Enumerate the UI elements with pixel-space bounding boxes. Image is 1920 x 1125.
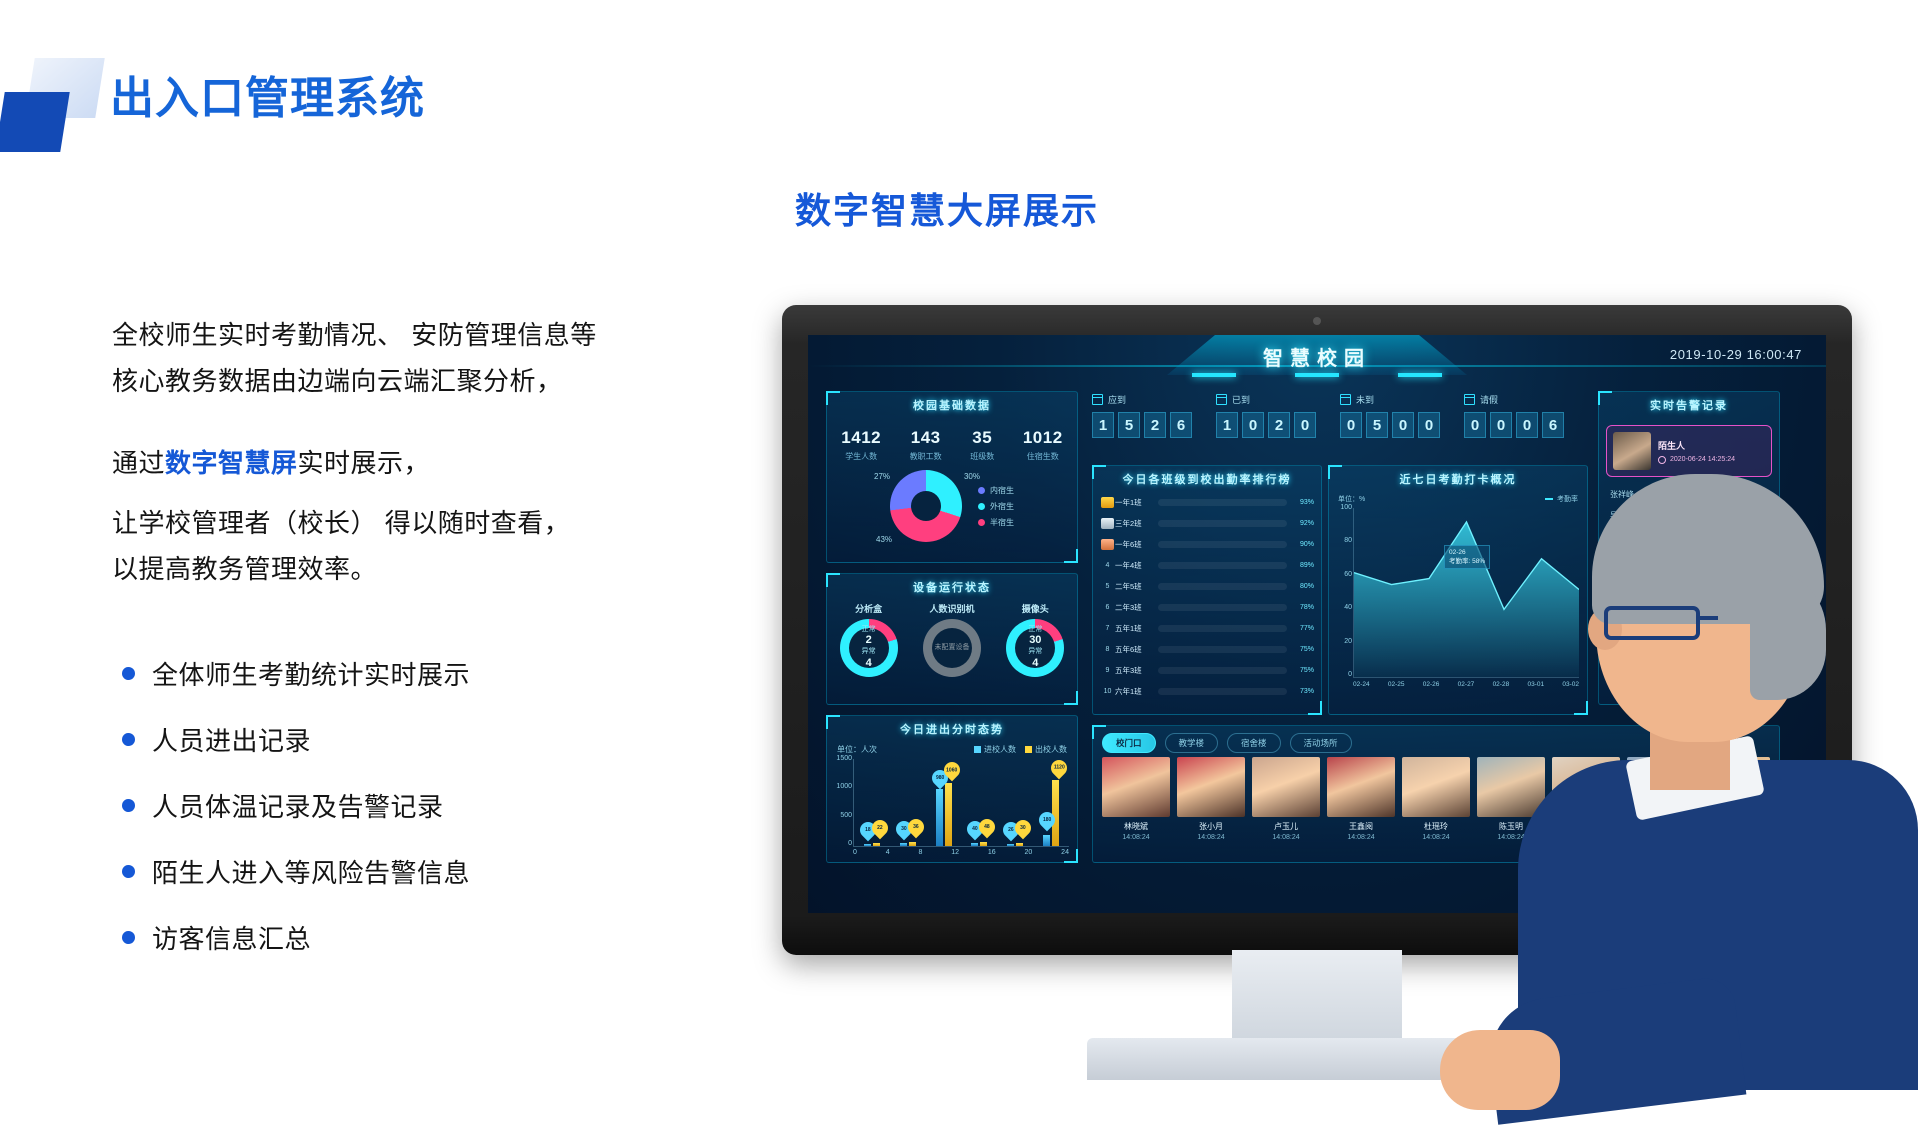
- y-tick: 40: [1330, 604, 1352, 611]
- rank-number: 9: [1100, 667, 1115, 674]
- kpi-classes: 35 班级数: [970, 428, 994, 462]
- class-name: 一年1班: [1115, 497, 1153, 508]
- device-ring-chart: 正常 2 异常 4: [840, 619, 898, 677]
- list-item: 人员体温记录及告警记录: [122, 787, 682, 824]
- dashboard-header: 智慧校园 2019-10-29 16:00:47: [808, 335, 1826, 383]
- face-thumbnail: [1402, 757, 1470, 817]
- face-name: 卢玉儿: [1252, 821, 1320, 832]
- paragraph-benefit-line1: 让学校管理者（校长） 得以随时查看，: [112, 500, 732, 546]
- rank-number: 4: [1100, 562, 1115, 569]
- donut-pct-bottom: 43%: [876, 535, 892, 544]
- chart-plot-area: 1500 1000 500 0 18 22 30 36: [853, 759, 1069, 847]
- bullet-label: 陌生人进入等风险告警信息: [152, 853, 470, 890]
- bar-group: 980 1060: [936, 783, 952, 846]
- stat-arrived: 已到 1 0 2 0: [1216, 393, 1340, 459]
- device-bad-label: 异常: [1028, 648, 1042, 657]
- face-time: 14:08:24: [1402, 834, 1470, 841]
- rank-number: 6: [1100, 604, 1115, 611]
- class-pct: 89%: [1292, 562, 1314, 569]
- person-glasses: [1604, 606, 1700, 640]
- class-name: 五年6班: [1115, 644, 1153, 655]
- list-item: 全体师生考勤统计实时展示: [122, 655, 682, 692]
- list-item: 访客信息汇总: [122, 919, 682, 956]
- stat-label: 已到: [1232, 393, 1250, 406]
- kpi-label: 班级数: [970, 451, 994, 462]
- table-row: 5 二年5班 80%: [1093, 576, 1321, 597]
- medal-gold-icon: [1101, 497, 1114, 508]
- class-name: 一年6班: [1115, 539, 1153, 550]
- face-thumbnail: [1177, 757, 1245, 817]
- class-name: 一年4班: [1115, 560, 1153, 571]
- class-name: 六年1班: [1115, 686, 1153, 697]
- legend-item: 出校人数: [1025, 744, 1067, 755]
- list-item[interactable]: 王鑫阅 14:08:24: [1327, 757, 1395, 841]
- x-tick: 0: [853, 849, 857, 856]
- bullet-dot-icon: [122, 667, 135, 680]
- panel-title: 今日各班级到校出勤率排行榜: [1093, 466, 1321, 492]
- x-tick: 02-24: [1353, 681, 1370, 688]
- bullet-label: 人员体温记录及告警记录: [152, 787, 444, 824]
- device-ok-value: 2: [866, 634, 872, 648]
- class-pct: 75%: [1292, 667, 1314, 674]
- tab-teaching-building[interactable]: 教学楼: [1165, 733, 1219, 753]
- class-name: 五年3班: [1115, 665, 1153, 676]
- device-name: 分析盒: [840, 602, 898, 615]
- list-item[interactable]: 林晓斌 14:08:24: [1102, 757, 1170, 841]
- class-name: 五年1班: [1115, 623, 1153, 634]
- class-name: 三年2班: [1115, 518, 1153, 529]
- class-pct: 93%: [1292, 499, 1314, 506]
- stat-label: 应到: [1108, 393, 1126, 406]
- stat-digits: 1 0 2 0: [1216, 412, 1340, 438]
- table-row: 8 五年6班 75%: [1093, 639, 1321, 660]
- chart-header: 单位：人次 进校人数 出校人数: [827, 742, 1077, 755]
- rank-number: 5: [1100, 583, 1115, 590]
- legend-item: 外宿生: [978, 501, 1014, 512]
- panel-title: 今日进出分时态势: [827, 716, 1077, 742]
- legend-item: 半宿生: [978, 517, 1014, 528]
- paragraph-display-pre: 通过: [112, 448, 165, 478]
- person-glasses-bridge: [1696, 616, 1718, 620]
- kpi-value: 1012: [1023, 428, 1063, 448]
- face-thumbnail: [1327, 757, 1395, 817]
- device-name: 摄像头: [1006, 602, 1064, 615]
- legend-label: 出校人数: [1035, 744, 1067, 755]
- class-pct: 80%: [1292, 583, 1314, 590]
- face-thumbnail: [1102, 757, 1170, 817]
- device-ok-label: 正常: [862, 626, 876, 635]
- webcam-icon: [1313, 317, 1321, 325]
- y-tick: 60: [1330, 571, 1352, 578]
- list-item[interactable]: 张小月 14:08:24: [1177, 757, 1245, 841]
- clock-timestamp: 2019-10-29 16:00:47: [1670, 347, 1802, 362]
- donut-ring: [890, 470, 962, 542]
- monitor-stand-neck: [1232, 950, 1402, 1042]
- face-name: 张小月: [1177, 821, 1245, 832]
- kpi-staff: 143 教职工数: [910, 428, 942, 462]
- legend-label: 进校人数: [984, 744, 1016, 755]
- x-tick: 16: [988, 849, 996, 856]
- bullet-label: 人员进出记录: [152, 721, 311, 758]
- table-row: 4 一年4班 89%: [1093, 555, 1321, 576]
- x-tick: 02-26: [1423, 681, 1440, 688]
- face-name: 杜瑶玲: [1402, 821, 1470, 832]
- chart-unit-label: 单位：人次: [837, 744, 877, 755]
- y-tick: 0: [828, 840, 852, 847]
- legend-item: 内宿生: [978, 485, 1014, 496]
- person-hand: [1440, 1030, 1560, 1110]
- donut-pct-right: 30%: [964, 472, 980, 481]
- device-ok-label: 正常: [1028, 626, 1042, 635]
- dashboard-title: 智慧校园: [1167, 342, 1467, 371]
- boarding-donut-chart: 27% 30% 43% 内宿生 外宿生 半宿生: [827, 470, 1077, 542]
- y-tick: 0: [1330, 671, 1352, 678]
- table-row: 一年1班 93%: [1093, 492, 1321, 513]
- donut-pct-left: 27%: [874, 472, 890, 481]
- feature-bullet-list: 全体师生考勤统计实时展示 人员进出记录 人员体温记录及告警记录 陌生人进入等风险…: [122, 655, 682, 985]
- x-tick: 8: [919, 849, 923, 856]
- device-ring-chart: 正常 30 异常 4: [1006, 619, 1064, 677]
- kpi-boarders: 1012 住宿生数: [1023, 428, 1063, 462]
- y-tick: 80: [1330, 537, 1352, 544]
- device-ring-chart: 未配置设备: [923, 619, 981, 677]
- y-tick: 500: [828, 812, 852, 819]
- stat-digits: 0 5 0 0: [1340, 412, 1464, 438]
- rank-number: 7: [1100, 625, 1115, 632]
- class-pct: 77%: [1292, 625, 1314, 632]
- kpi-students: 1412 学生人数: [841, 428, 881, 462]
- class-pct: 73%: [1292, 688, 1314, 695]
- face-thumbnail: [1252, 757, 1320, 817]
- x-tick: 24: [1061, 849, 1069, 856]
- bar-group: 18 22: [864, 843, 880, 846]
- kpi-value: 143: [910, 428, 942, 448]
- device-row: 分析盒 正常 2 异常 4 人数识别机: [827, 602, 1077, 677]
- rank-number: 8: [1100, 646, 1115, 653]
- bar-group: 30 36: [900, 842, 916, 846]
- device-analyzer: 分析盒 正常 2 异常 4: [840, 602, 898, 677]
- stat-absent: 未到 0 5 0 0: [1340, 393, 1464, 459]
- device-bad-label: 异常: [862, 648, 876, 657]
- bullet-label: 全体师生考勤统计实时展示: [152, 655, 470, 692]
- panel-device-status: 设备运行状态 分析盒 正常 2 异常 4: [826, 573, 1078, 705]
- class-name: 二年3班: [1115, 602, 1153, 613]
- tab-dormitory[interactable]: 宿舍楼: [1227, 733, 1281, 753]
- paragraph-intro: 全校师生实时考勤情况、 安防管理信息等 核心教务数据由边端向云端汇聚分析，: [112, 312, 712, 404]
- list-item: 人员进出记录: [122, 721, 682, 758]
- device-ok-value: 30: [1029, 634, 1041, 648]
- paragraph-benefit: 让学校管理者（校长） 得以随时查看， 以提高教务管理效率。: [112, 500, 732, 592]
- face-name: 林晓斌: [1102, 821, 1170, 832]
- list-item[interactable]: 杜瑶玲 14:08:24: [1402, 757, 1470, 841]
- tab-school-gate[interactable]: 校门口: [1102, 733, 1156, 753]
- bullet-dot-icon: [122, 931, 135, 944]
- page-title: 出入口管理系统: [110, 62, 425, 126]
- table-row: 10 六年1班 73%: [1093, 681, 1321, 702]
- face-name: 王鑫阅: [1327, 821, 1395, 832]
- class-name: 二年5班: [1115, 581, 1153, 592]
- y-tick: 1500: [828, 755, 852, 762]
- face-time: 14:08:24: [1327, 834, 1395, 841]
- calendar-icon: [1092, 394, 1103, 405]
- medal-silver-icon: [1101, 518, 1114, 529]
- class-pct: 78%: [1292, 604, 1314, 611]
- kpi-value: 35: [970, 428, 994, 448]
- kpi-label: 住宿生数: [1023, 451, 1063, 462]
- class-pct: 90%: [1292, 541, 1314, 548]
- paragraph-intro-line2: 核心教务数据由边端向云端汇聚分析，: [112, 358, 712, 404]
- kpi-row: 1412 学生人数 143 教职工数 35 班级数 1012 住宿生数: [827, 428, 1077, 462]
- tab-activity-area[interactable]: 活动场所: [1290, 733, 1352, 753]
- table-row: 一年6班 90%: [1093, 534, 1321, 555]
- legend-label: 外宿生: [990, 501, 1014, 512]
- chart-unit-label: 单位：%: [1338, 494, 1365, 504]
- medal-bronze-icon: [1101, 539, 1114, 550]
- face-time: 14:08:24: [1102, 834, 1170, 841]
- bar-group: 40 48: [971, 842, 987, 846]
- list-item: 陌生人进入等风险告警信息: [122, 853, 682, 890]
- y-tick: 20: [1330, 638, 1352, 645]
- y-tick: 100: [1330, 504, 1352, 511]
- donut-legend: 内宿生 外宿生 半宿生: [978, 480, 1014, 533]
- bar-value-pin: 1120: [1048, 757, 1071, 780]
- y-axis-ticks: 1500 1000 500 0: [828, 755, 852, 847]
- y-tick: 1000: [828, 783, 852, 790]
- header-tick-marks: [1192, 373, 1442, 377]
- bullet-dot-icon: [122, 865, 135, 878]
- device-counter: 人数识别机 未配置设备: [923, 602, 981, 677]
- stat-digits: 1 5 2 6: [1092, 412, 1216, 438]
- face-time: 14:08:24: [1177, 834, 1245, 841]
- decor-corner-solid: [0, 92, 70, 152]
- x-tick: 12: [951, 849, 959, 856]
- bar-group-container: 18 22 30 36 980 1060: [854, 759, 1069, 846]
- paragraph-intro-line1: 全校师生实时考勤情况、 安防管理信息等: [112, 312, 712, 358]
- ranking-list: 一年1班 93% 三年2班 92% 一年6班 90%: [1093, 492, 1321, 702]
- bullet-label: 访客信息汇总: [152, 919, 311, 956]
- paragraph-display-highlight: 数字智慧屏: [165, 448, 298, 478]
- device-empty-label: 未配置设备: [934, 644, 969, 653]
- device-name: 人数识别机: [923, 602, 981, 615]
- bullet-dot-icon: [122, 733, 135, 746]
- panel-class-ranking: 今日各班级到校出勤率排行榜 一年1班 93% 三年2班 92%: [1092, 465, 1322, 715]
- paragraph-display-post: 实时展示，: [298, 448, 431, 478]
- rank-number: 10: [1100, 688, 1115, 695]
- kpi-label: 教职工数: [910, 451, 942, 462]
- face-time: 14:08:24: [1252, 834, 1320, 841]
- chart-legend: 进校人数 出校人数: [974, 744, 1067, 755]
- table-row: 三年2班 92%: [1093, 513, 1321, 534]
- device-bad-value: 4: [1032, 657, 1038, 671]
- legend-item: 进校人数: [974, 744, 1016, 755]
- chart-annotation: 02-26 考勤率: 58%: [1444, 545, 1490, 569]
- class-pct: 92%: [1292, 520, 1314, 527]
- stat-expected: 应到 1 5 2 6: [1092, 393, 1216, 459]
- bullet-dot-icon: [122, 799, 135, 812]
- stat-label: 未到: [1356, 393, 1374, 406]
- bar-group: 180 1120: [1043, 780, 1059, 846]
- table-row: 9 五年3班 75%: [1093, 660, 1321, 681]
- x-tick: 02-27: [1458, 681, 1475, 688]
- y-axis-ticks: 100 80 60 40 20 0: [1330, 504, 1352, 678]
- calendar-cross-icon: [1340, 394, 1351, 405]
- panel-title: 校园基础数据: [827, 392, 1077, 418]
- panel-title: 设备运行状态: [827, 574, 1077, 600]
- stat-label: 请假: [1480, 393, 1498, 406]
- x-tick: 02-25: [1388, 681, 1405, 688]
- device-camera: 摄像头 正常 30 异常 4: [1006, 602, 1064, 677]
- table-row: 7 五年1班 77%: [1093, 618, 1321, 639]
- x-tick: 20: [1025, 849, 1033, 856]
- paragraph-display: 通过数字智慧屏实时展示，: [112, 440, 712, 486]
- device-bad-value: 4: [866, 657, 872, 671]
- x-axis-ticks: 0 4 8 12 16 20 24: [853, 849, 1069, 856]
- section-title-display: 数字智慧大屏展示: [795, 182, 1099, 234]
- x-tick: 4: [886, 849, 890, 856]
- table-row: 6 二年3班 78%: [1093, 597, 1321, 618]
- legend-label: 内宿生: [990, 485, 1014, 496]
- list-item[interactable]: 卢玉儿 14:08:24: [1252, 757, 1320, 841]
- bar-group: 26 30: [1007, 843, 1023, 846]
- legend-label: 半宿生: [990, 517, 1014, 528]
- kpi-value: 1412: [841, 428, 881, 448]
- kpi-label: 学生人数: [841, 451, 881, 462]
- illustration-person: [1500, 430, 1920, 1080]
- class-pct: 75%: [1292, 646, 1314, 653]
- paragraph-benefit-line2: 以提高教务管理效率。: [112, 546, 732, 592]
- panel-title: 实时告警记录: [1599, 392, 1779, 418]
- panel-campus-basics: 校园基础数据 1412 学生人数 143 教职工数 35 班级数: [826, 391, 1078, 563]
- panel-hourly-flow: 今日进出分时态势 单位：人次 进校人数 出校人数 1500 1000 500 0: [826, 715, 1078, 863]
- calendar-check-icon: [1216, 394, 1227, 405]
- calendar-leave-icon: [1464, 394, 1475, 405]
